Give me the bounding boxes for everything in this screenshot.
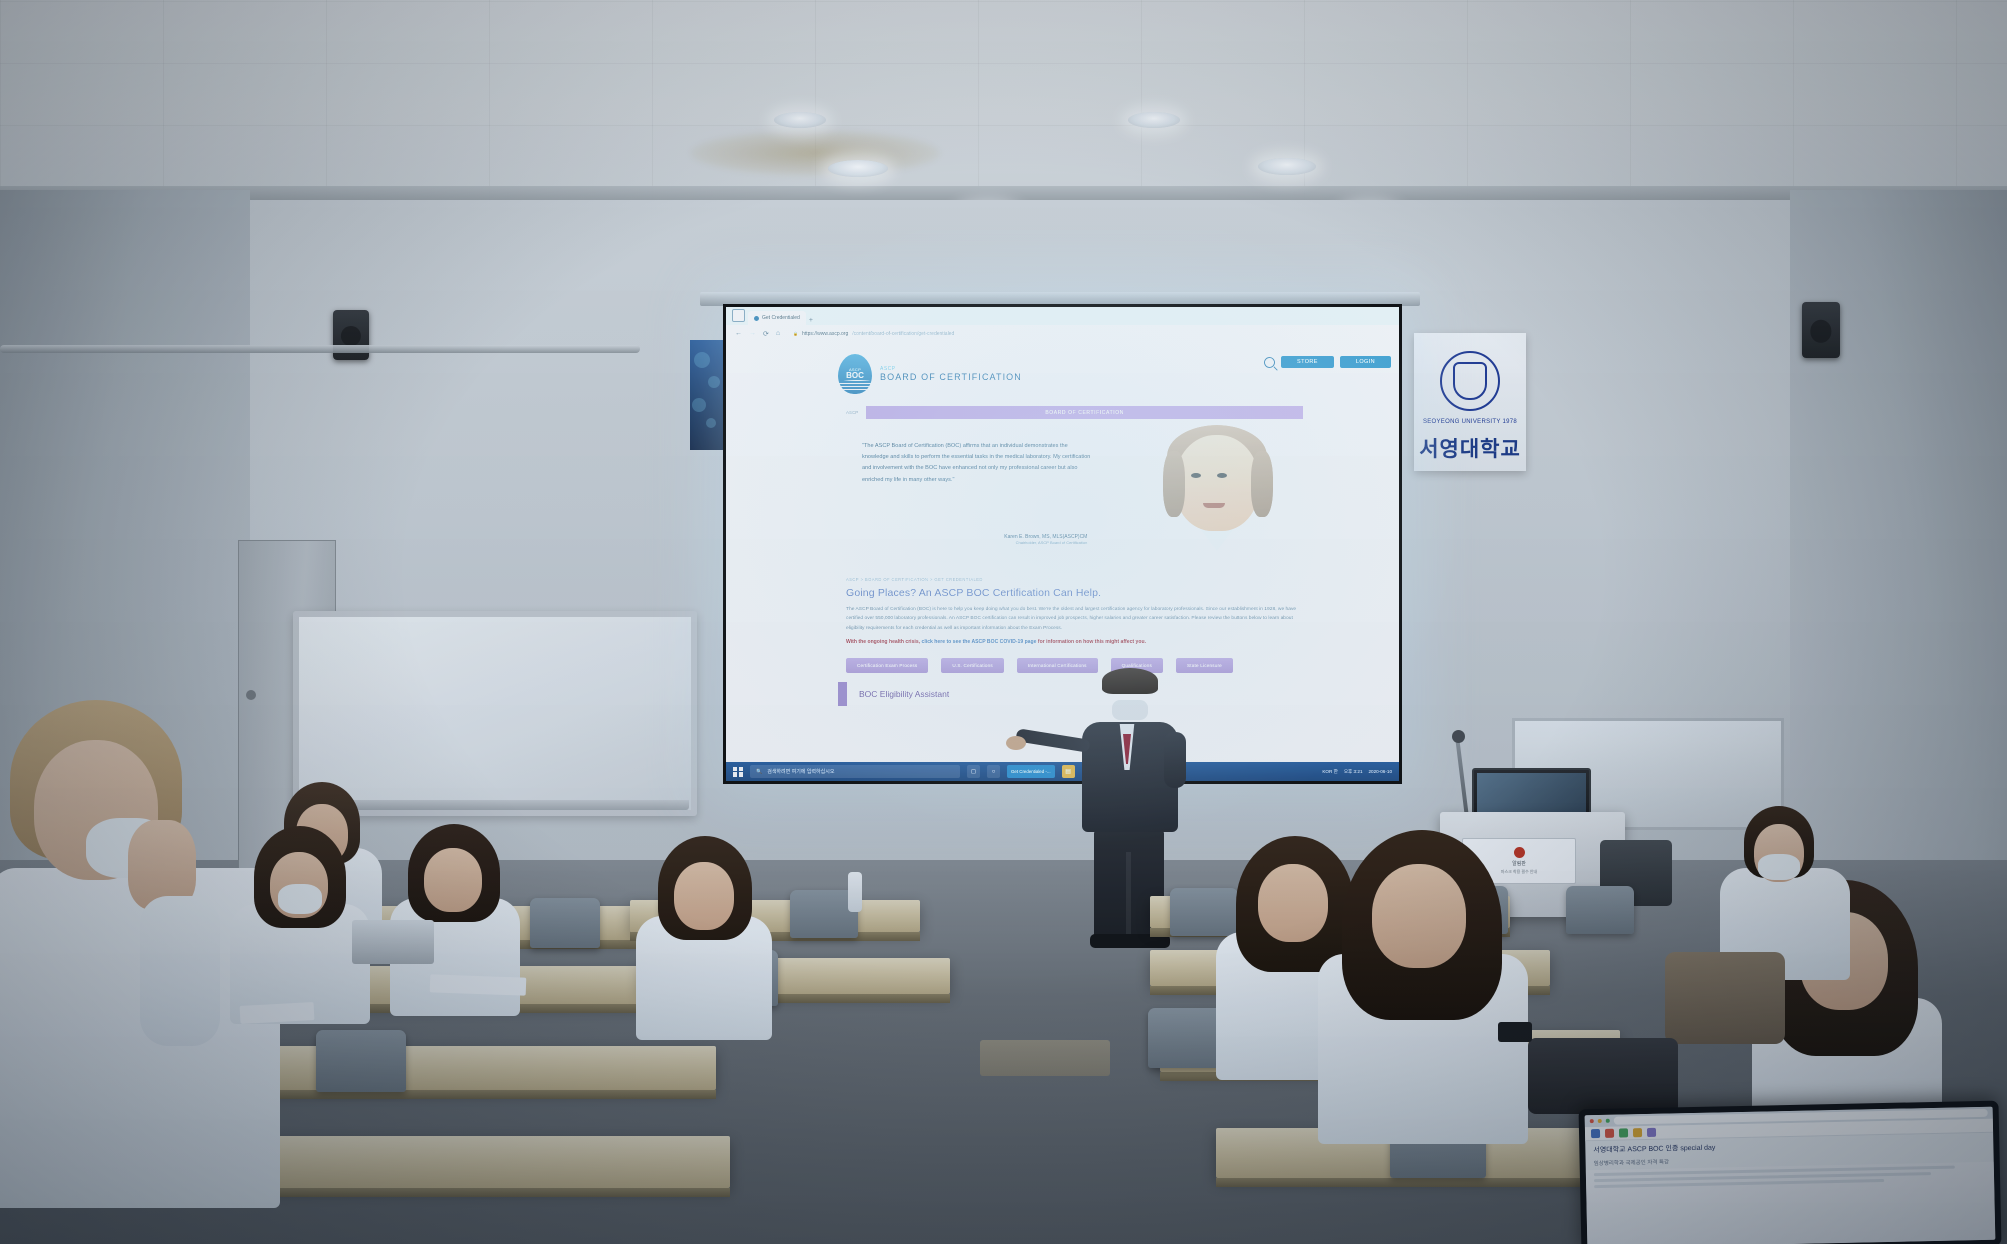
bag	[1528, 1038, 1678, 1114]
presenter-face-mask	[1112, 700, 1148, 720]
avatar	[1157, 429, 1277, 569]
tablet-device[interactable]: 서영대학교 ASCP BOC 인증 special day 임상병리학과 국제공…	[1579, 1101, 2002, 1244]
search-input[interactable]: 🔍 검색하려면 여기에 입력하십시오	[750, 765, 960, 778]
assistant-accent-bar	[838, 682, 847, 706]
ceiling-light-icon	[1258, 158, 1316, 175]
cortana-icon[interactable]: ○	[987, 765, 1000, 778]
curtain-rail	[0, 345, 640, 353]
favicon-icon	[754, 316, 759, 321]
laptop	[352, 920, 434, 964]
portrait-hair-right	[1251, 451, 1273, 517]
breadcrumb-bar: ASCP BOARD OF CERTIFICATION	[846, 406, 1303, 419]
presenter-leg-gap	[1126, 852, 1131, 940]
breadcrumb-title: BOARD OF CERTIFICATION	[866, 406, 1303, 419]
portrait-hair-left	[1163, 451, 1185, 517]
portrait-eye-right	[1217, 473, 1227, 478]
attribution-role: Chairholder, ASCP Board of Certification	[862, 540, 1087, 545]
browser-tab[interactable]: Get Credentialed	[748, 311, 806, 325]
door-knob[interactable]	[246, 690, 256, 700]
covid-notice-prefix: With the ongoing health crisis,	[846, 639, 920, 645]
browser-app-icon	[732, 309, 745, 322]
student-head	[1372, 864, 1466, 968]
toolbar-icon[interactable]	[1619, 1128, 1628, 1137]
toolbar-icon[interactable]	[1605, 1129, 1614, 1138]
home-icon[interactable]: ⌂	[776, 330, 780, 337]
university-banner: SEOYEONG UNIVERSITY 1978 서영대학교	[1414, 333, 1526, 471]
face-mask	[1758, 854, 1800, 880]
window-dot-icon[interactable]	[1590, 1119, 1594, 1123]
page-title: Going Places? An ASCP BOC Certification …	[846, 587, 1303, 599]
university-banner-text: 서영대학교	[1414, 433, 1526, 463]
page-body-copy: The ASCP Board of Certification (BOC) is…	[846, 605, 1303, 633]
url-host: https://www.ascp.org	[802, 331, 848, 337]
student-head	[674, 862, 734, 930]
toolbar-icon[interactable]	[1591, 1129, 1600, 1138]
face-mask	[278, 884, 322, 914]
student-forearm	[140, 896, 220, 1046]
search-placeholder: 검색하려면 여기에 입력하십시오	[767, 768, 834, 775]
ceiling-light-icon	[1128, 112, 1180, 128]
chair	[1566, 886, 1634, 934]
student	[1318, 830, 1528, 1130]
state-licensure-button[interactable]: State Licensure	[1176, 658, 1233, 673]
projector-screen: Get Credentialed + ← → ⟳ ⌂ 🔒 https://www…	[723, 304, 1402, 784]
window-dot-icon[interactable]	[1606, 1119, 1610, 1123]
portrait-eye-left	[1191, 473, 1201, 478]
tablet-screen[interactable]: 서영대학교 ASCP BOC 인증 special day 임상병리학과 국제공…	[1585, 1107, 1996, 1244]
browser-tab-title: Get Credentialed	[762, 315, 800, 321]
covid-notice-link[interactable]: click here to see the ASCP BOC COVID-19 …	[922, 639, 1037, 645]
reload-icon[interactable]: ⟳	[763, 330, 769, 338]
covid-notice-suffix: for information on how this might affect…	[1038, 639, 1146, 645]
clock-date[interactable]: 2020-06-10	[1369, 769, 1393, 774]
chair	[316, 1030, 406, 1092]
login-button[interactable]: LOGIN	[1340, 356, 1391, 368]
certification-button-row[interactable]: Certification Exam Process U.S. Certific…	[846, 658, 1303, 673]
right-wall	[1790, 190, 2007, 910]
ceiling-stain	[690, 130, 940, 176]
wordmark-main: BOARD OF CERTIFICATION	[880, 372, 1022, 382]
international-certifications-button[interactable]: International Certifications	[1017, 658, 1098, 673]
clock-time[interactable]: 오후 3:21	[1344, 769, 1363, 775]
paper-sheet	[430, 974, 527, 995]
task-view-icon[interactable]: ◻	[967, 765, 980, 778]
site-wordmark: ASCP BOARD OF CERTIFICATION	[880, 366, 1022, 382]
lecture-hall-scene: SEOYEONG UNIVERSITY 1978 서영대학교 Get Crede…	[0, 0, 2007, 1244]
portrait-mouth	[1203, 503, 1225, 508]
toolbar-icon[interactable]	[1647, 1128, 1656, 1137]
window-dot-icon[interactable]	[1598, 1119, 1602, 1123]
breadcrumb-left: ASCP	[846, 410, 866, 415]
search-icon: 🔍	[756, 769, 762, 775]
wave-icon	[838, 380, 872, 391]
presenter-hair	[1102, 668, 1158, 694]
water-bottle	[848, 872, 862, 912]
system-tray[interactable]: KOR 한 오후 3:21 2020-06-10	[1322, 769, 1392, 775]
student	[230, 826, 370, 1016]
search-icon[interactable]	[1264, 357, 1275, 368]
university-emblem-icon	[1440, 351, 1500, 411]
url-path: /content/board-of-certification/get-cred…	[852, 331, 954, 337]
back-icon[interactable]: ←	[735, 330, 742, 337]
university-emblem-text: SEOYEONG UNIVERSITY 1978	[1414, 419, 1526, 425]
ceiling-light-icon	[774, 112, 826, 128]
covid-notice: With the ongoing health crisis, click he…	[846, 639, 1303, 647]
ascp-boc-logo-icon[interactable]: ASCP BOC	[838, 354, 872, 394]
us-certifications-button[interactable]: U.S. Certifications	[941, 658, 1004, 673]
tablet-page-body	[1586, 1162, 1996, 1244]
browser-window[interactable]: Get Credentialed + ← → ⟳ ⌂ 🔒 https://www…	[726, 307, 1399, 781]
lock-icon: 🔒	[793, 331, 798, 336]
taskbar-app-label: Get Credentialed -...	[1011, 769, 1051, 774]
forward-icon[interactable]: →	[749, 330, 756, 337]
toolbar-icon[interactable]	[1633, 1128, 1642, 1137]
breadcrumb[interactable]: ASCP > BOARD OF CERTIFICATION > GET CRED…	[846, 577, 1303, 582]
new-tab-button[interactable]: +	[809, 317, 813, 324]
hero-quote-card: "The ASCP Board of Certification (BOC) a…	[846, 419, 1303, 571]
student	[636, 836, 772, 1026]
presenter-pointing-hand	[1006, 736, 1026, 750]
speaker-icon	[1802, 302, 1840, 358]
ceiling-light-icon	[828, 160, 888, 177]
tray-input-language[interactable]: KOR 한	[1322, 769, 1337, 775]
web-page: ASCP BOC ASCP BOARD OF CERTIFICATION STO…	[726, 342, 1399, 762]
exam-process-button[interactable]: Certification Exam Process	[846, 658, 928, 673]
start-button[interactable]	[733, 767, 743, 777]
student-head	[424, 848, 482, 912]
logo-big-text: BOC	[846, 372, 864, 380]
browser-tab-strip[interactable]: Get Credentialed +	[726, 307, 1399, 325]
backpack	[1665, 952, 1785, 1044]
staff-member	[1720, 806, 1850, 976]
presenter-right-arm	[1164, 732, 1186, 788]
phone	[1498, 1022, 1532, 1042]
taskbar-app-browser[interactable]: Get Credentialed -...	[1007, 765, 1055, 778]
hero-quote-text: "The ASCP Board of Certification (BOC) a…	[846, 419, 1097, 571]
address-bar[interactable]: 🔒 https://www.ascp.org /content/board-of…	[787, 328, 1390, 339]
site-header: ASCP BOC ASCP BOARD OF CERTIFICATION STO…	[726, 342, 1399, 398]
portrait-face	[1175, 435, 1259, 531]
microphone-head-icon	[1452, 730, 1465, 743]
floor-marking	[980, 1040, 1110, 1076]
windows-taskbar[interactable]: 🔍 검색하려면 여기에 입력하십시오 ◻ ○ Get Credentialed …	[726, 762, 1399, 781]
browser-omnibox-row[interactable]: ← → ⟳ ⌂ 🔒 https://www.ascp.org /content/…	[726, 325, 1399, 342]
store-button[interactable]: STORE	[1281, 356, 1334, 368]
site-top-nav[interactable]: STORE LOGIN	[1264, 356, 1391, 368]
hero-attribution: Karen E. Brown, MS, MLS(ASCP)CM Chairhol…	[862, 534, 1087, 545]
chair	[530, 898, 600, 948]
